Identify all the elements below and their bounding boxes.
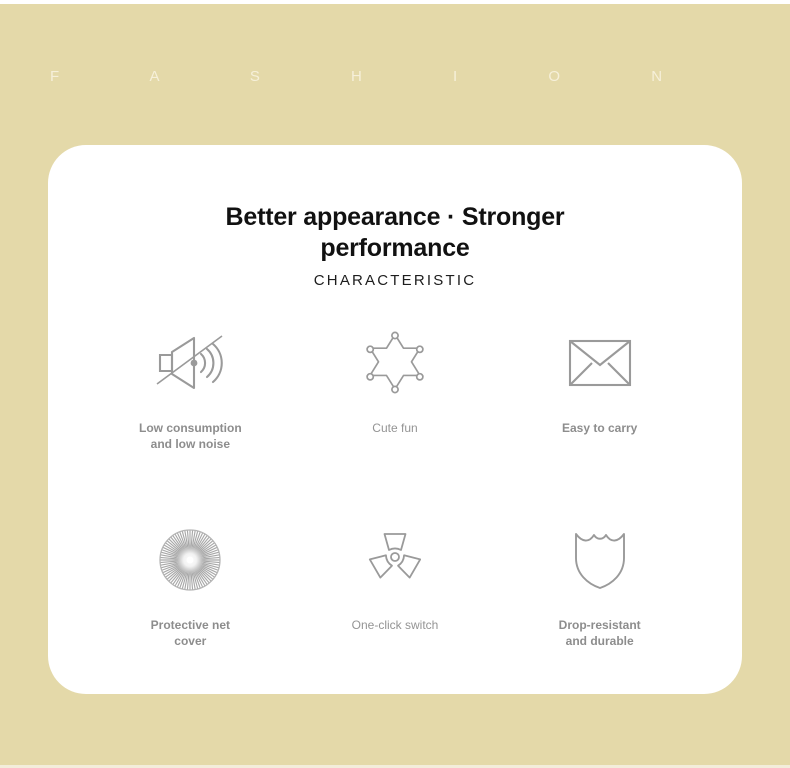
envelope-icon [554,327,646,399]
shield-icon [554,524,646,596]
page-title: Better appearance · Stronger performance [48,202,742,264]
feature-card: Better appearance · Stronger performance… [48,145,742,694]
feature-label: One-click switch [352,618,439,634]
muted-speaker-icon [144,327,236,399]
feature-item: One-click switch [293,524,498,649]
feature-item: Cute fun [293,327,498,452]
feature-label: Low consumption and low noise [139,421,242,452]
feature-grid: Low consumption and low noise Cute fun [88,327,702,649]
sunburst-grille-icon [144,524,236,596]
page-subtitle: CHARACTERISTIC [48,272,742,290]
feature-label: Drop-resistant and durable [559,618,641,649]
feature-label: Cute fun [372,421,417,437]
page-root: F A S H I O N F A N Better appearance · … [0,0,790,768]
radiation-fan-icon [349,524,441,596]
banner-text: F A S H I O N F A N [50,62,790,92]
feature-item: Easy to carry [497,327,702,452]
feature-label: Protective net cover [151,618,230,649]
top-white-strip [0,0,790,4]
heading-group: Better appearance · Stronger performance… [48,202,742,290]
feature-item: Low consumption and low noise [88,327,293,452]
feature-label: Easy to carry [562,421,637,437]
feature-item: Protective net cover [88,524,293,649]
banner: F A S H I O N F A N [50,62,750,92]
feature-item: Drop-resistant and durable [497,524,702,649]
six-point-star-icon [349,327,441,399]
